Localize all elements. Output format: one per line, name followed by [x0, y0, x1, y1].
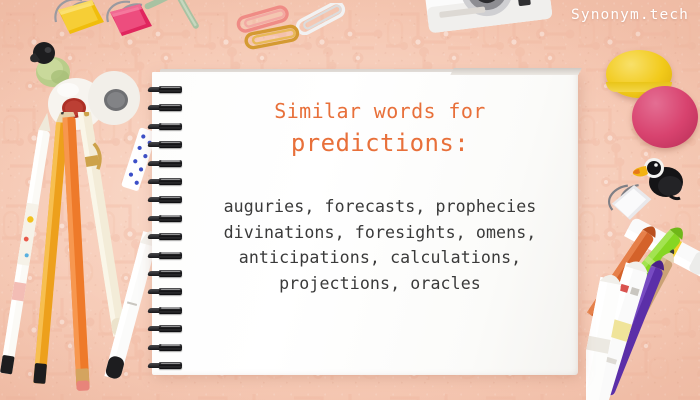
- spiral-ring: [148, 160, 182, 167]
- page-title-headword: predictions:: [190, 129, 570, 157]
- page-title-line1: Similar words for: [190, 99, 570, 123]
- notepad: Similar words for predictions: auguries,…: [152, 72, 578, 375]
- green-scissors: [140, 0, 218, 38]
- synonym-line: anticipations, calculations,: [168, 245, 592, 271]
- gold-paper-clip: [240, 22, 304, 54]
- spiral-ring: [148, 307, 182, 314]
- notepad-content: Similar words for predictions: auguries,…: [190, 72, 570, 375]
- spiral-ring: [148, 141, 182, 148]
- pink-macaron: [632, 86, 698, 148]
- camera: [418, 0, 558, 46]
- spiral-ring: [148, 325, 182, 332]
- spiral-ring: [148, 178, 182, 185]
- spiral-ring: [148, 362, 182, 369]
- spiral-ring: [148, 104, 182, 111]
- synonym-line: divinations, foresights, omens,: [168, 220, 592, 246]
- desk-scene: Similar words for predictions: auguries,…: [0, 0, 700, 400]
- site-logo[interactable]: Synonym.tech: [571, 7, 689, 23]
- stationery-right-cluster: [586, 210, 700, 400]
- spiral-ring: [148, 86, 182, 93]
- synonym-line: auguries, forecasts, prophecies: [168, 194, 592, 220]
- spiral-ring: [148, 123, 182, 130]
- stationery-left-cluster: [0, 112, 156, 400]
- synonym-list: auguries, forecasts, propheciesdivinatio…: [168, 194, 592, 296]
- synonym-line: projections, oracles: [168, 271, 592, 297]
- spiral-ring: [148, 344, 182, 351]
